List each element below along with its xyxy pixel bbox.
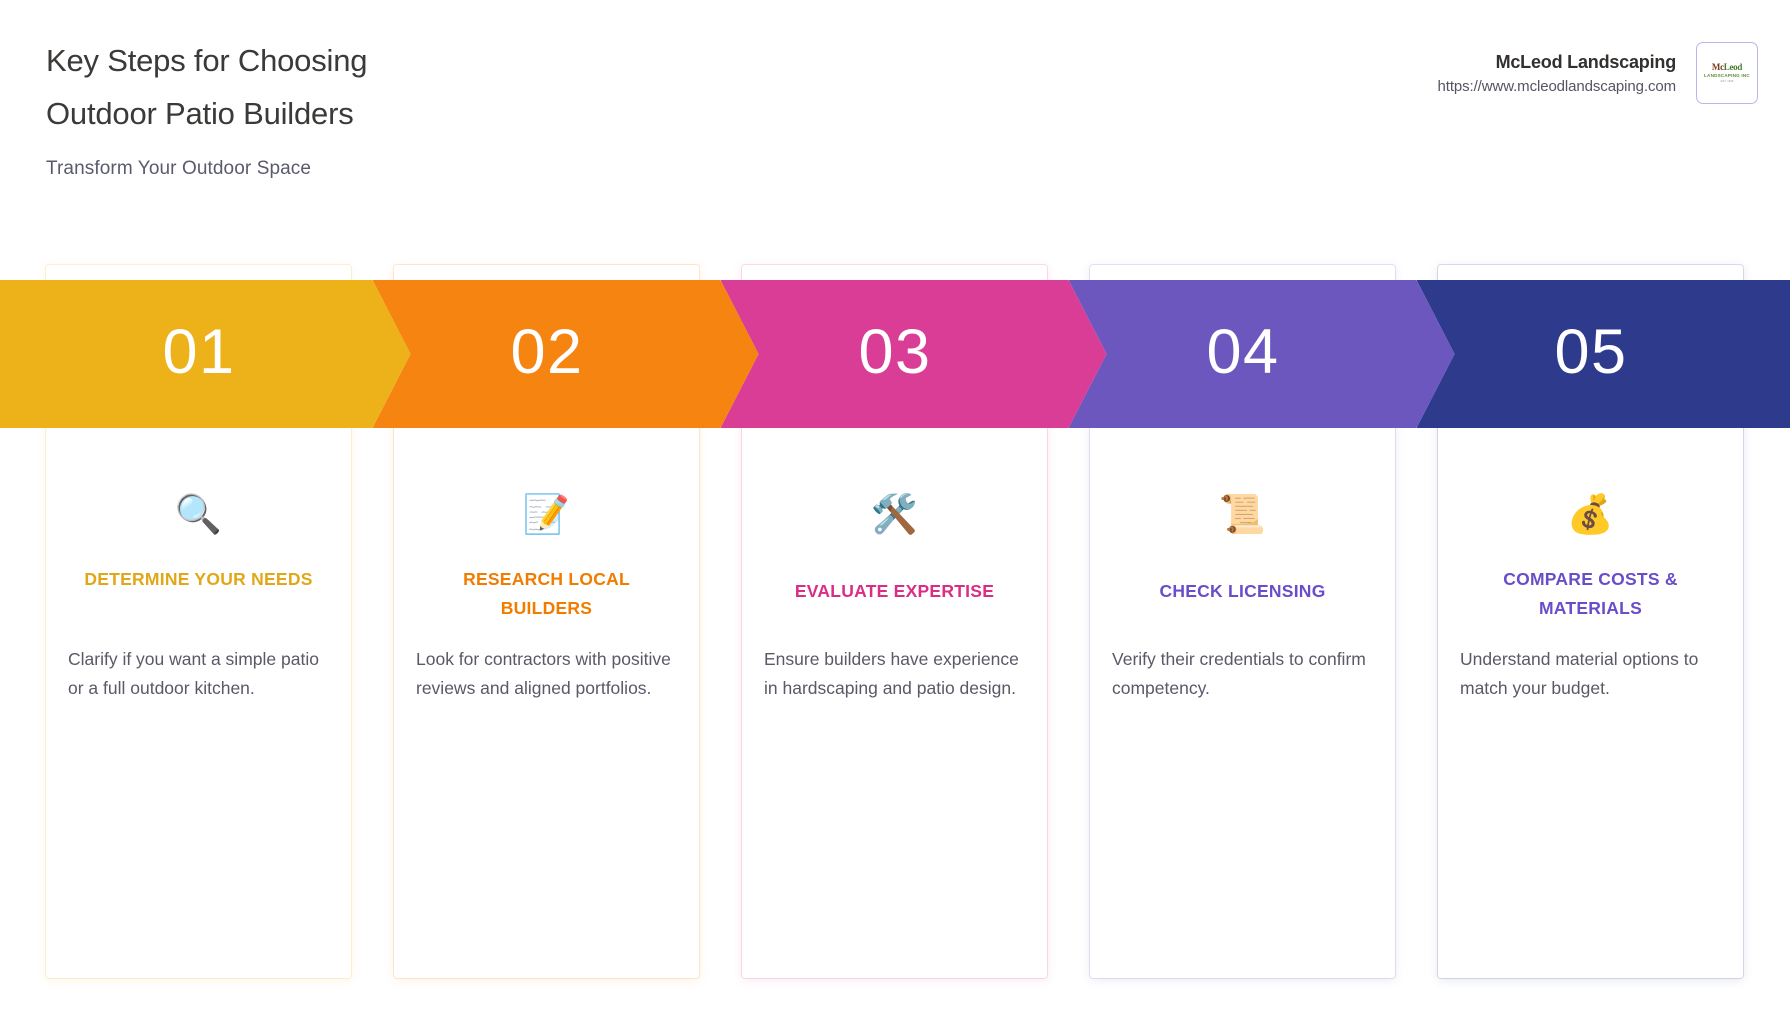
brand-name: McLeod Landscaping (1438, 52, 1676, 73)
logo-subtext: LANDSCAPING INC (1704, 73, 1750, 78)
step-body-2: Look for contractors with positive revie… (416, 645, 677, 703)
step-title-4: CHECK LICENSING (1118, 577, 1367, 606)
logo-wordmark-prefix: Mc (1712, 62, 1724, 72)
header: Key Steps for Choosing Outdoor Patio Bui… (0, 0, 1790, 200)
brand-text: McLeod Landscaping https://www.mcleodlan… (1438, 52, 1676, 95)
step-body-5: Understand material options to match you… (1460, 645, 1721, 703)
scroll-icon: 📜 (1090, 492, 1395, 536)
step-number-2: 02 (511, 321, 584, 384)
brand-url[interactable]: https://www.mcleodlandscaping.com (1438, 78, 1676, 95)
step-title-5: COMPARE COSTS & MATERIALS (1466, 565, 1715, 623)
logo-established-text: EST. 1968 (1721, 80, 1734, 83)
step-number-3: 03 (859, 321, 932, 384)
step-chevron-2[interactable]: 02 (373, 280, 759, 428)
logo-wordmark-suffix: Leod (1724, 62, 1742, 72)
brand-logo: McLeod LANDSCAPING INC EST. 1968 (1696, 42, 1758, 104)
hammer-and-wrench-icon: 🛠️ (742, 492, 1047, 536)
step-chevron-3[interactable]: 03 (721, 280, 1107, 428)
step-chevron-5[interactable]: 05 (1417, 280, 1790, 428)
step-number-5: 05 (1555, 321, 1628, 384)
step-number-4: 04 (1207, 321, 1280, 384)
step-chevron-band: 01 02 03 04 05 (0, 280, 1790, 428)
brand-block: McLeod Landscaping https://www.mcleodlan… (1438, 42, 1758, 104)
money-bag-icon: 💰 (1438, 492, 1743, 536)
page-title-line-2: Outdoor Patio Builders (46, 87, 367, 140)
logo-wordmark: McLeod (1712, 63, 1742, 72)
step-title-3: EVALUATE EXPERTISE (770, 577, 1019, 606)
header-title-block: Key Steps for Choosing Outdoor Patio Bui… (46, 34, 367, 180)
step-title-1: DETERMINE YOUR NEEDS (74, 565, 323, 594)
infographic-page: Key Steps for Choosing Outdoor Patio Bui… (0, 0, 1790, 1024)
step-body-4: Verify their credentials to confirm comp… (1112, 645, 1373, 703)
magnifying-glass-icon: 🔍 (46, 492, 351, 536)
step-chevron-1[interactable]: 01 (0, 280, 411, 428)
memo-pencil-icon: 📝 (394, 492, 699, 536)
step-chevron-4[interactable]: 04 (1069, 280, 1455, 428)
page-subtitle: Transform Your Outdoor Space (46, 158, 367, 180)
page-title-line-1: Key Steps for Choosing (46, 34, 367, 87)
step-body-3: Ensure builders have experience in hards… (764, 645, 1025, 703)
step-title-2: RESEARCH LOCAL BUILDERS (422, 565, 671, 623)
step-body-1: Clarify if you want a simple patio or a … (68, 645, 329, 703)
step-number-1: 01 (163, 321, 236, 384)
